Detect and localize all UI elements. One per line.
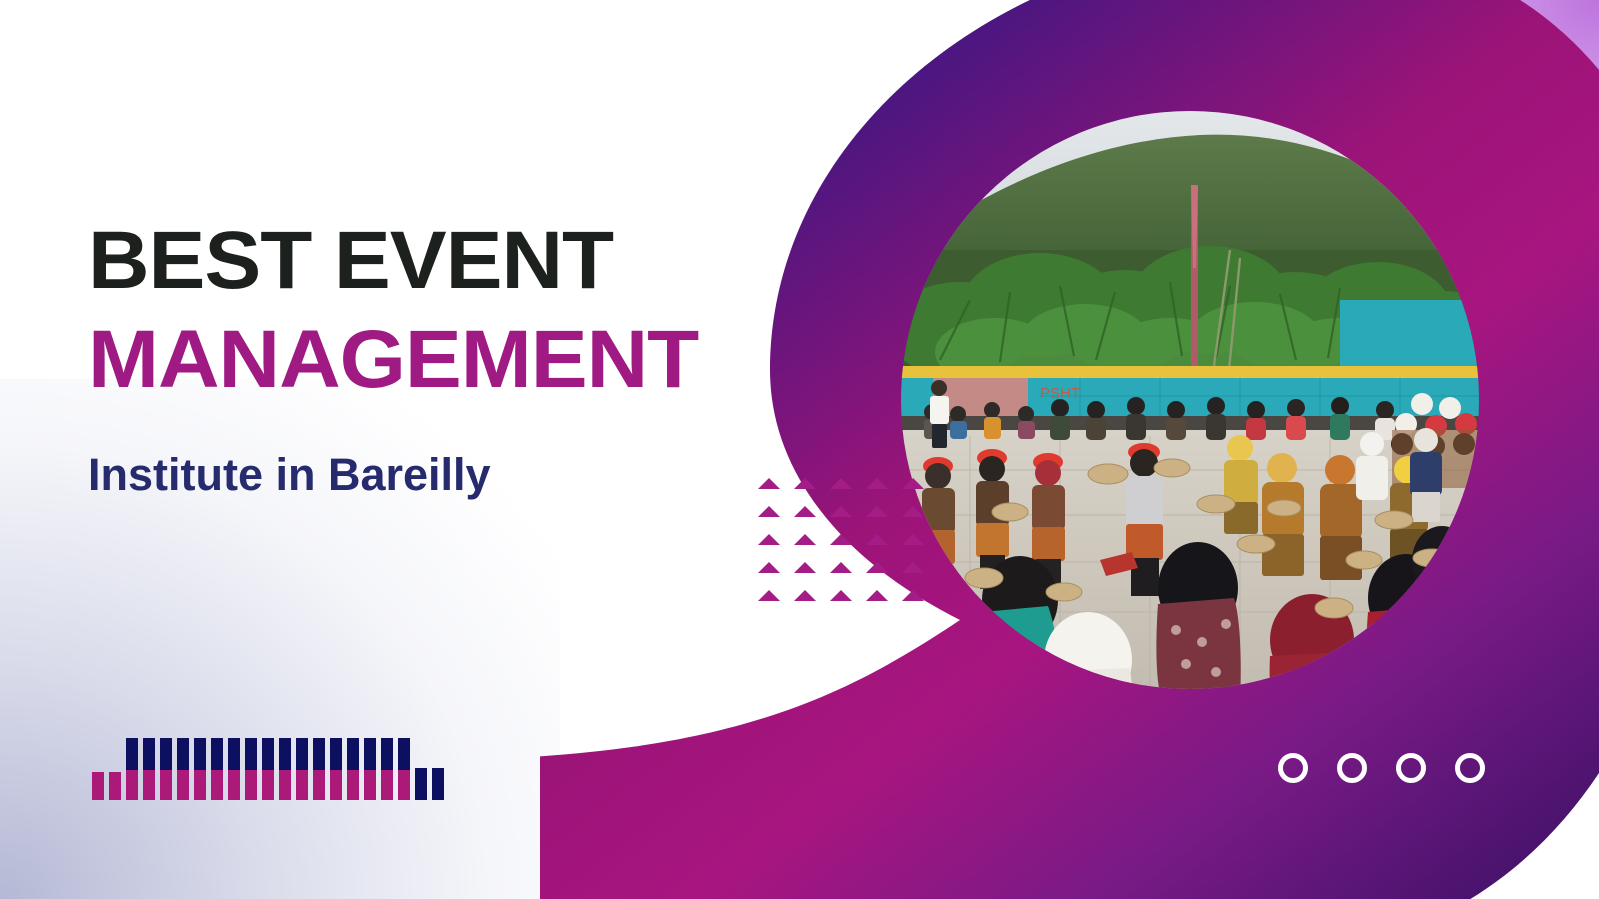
bar-segment-navy xyxy=(245,738,257,770)
equalizer-bar xyxy=(415,768,427,800)
triangle-up-icon xyxy=(830,590,852,601)
bar-segment-navy xyxy=(415,768,427,800)
carousel-dot-3[interactable] xyxy=(1396,753,1426,783)
triangle-up-icon xyxy=(830,562,852,573)
equalizer-bar xyxy=(160,738,172,800)
bar-segment-navy xyxy=(279,738,291,770)
bar-segment-magenta xyxy=(228,770,240,800)
triangle-up-icon xyxy=(794,506,816,517)
triangle-up-icon xyxy=(794,562,816,573)
triangle-up-icon xyxy=(902,506,924,517)
bar-segment-navy xyxy=(143,738,155,770)
triangle-up-icon xyxy=(830,534,852,545)
equalizer-bar xyxy=(126,738,138,800)
triangle-up-icon xyxy=(902,534,924,545)
triangle-up-icon xyxy=(866,590,888,601)
triangle-up-icon xyxy=(866,534,888,545)
triangle-up-icon xyxy=(902,478,924,489)
bar-segment-magenta xyxy=(381,770,393,800)
bar-segment-navy xyxy=(313,738,325,770)
equalizer-bar xyxy=(245,738,257,800)
bar-segment-magenta xyxy=(143,770,155,800)
photo-standing-man xyxy=(930,380,949,448)
triangle-up-icon xyxy=(758,506,780,517)
triangle-up-icon xyxy=(758,478,780,489)
equalizer-bar xyxy=(330,738,342,800)
bar-segment-magenta xyxy=(177,770,189,800)
equalizer-bar xyxy=(398,738,410,800)
equalizer-bar xyxy=(194,738,206,800)
bar-segment-magenta xyxy=(364,770,376,800)
equalizer-bar xyxy=(364,738,376,800)
equalizer-bar xyxy=(109,772,121,800)
equalizer-bar xyxy=(279,738,291,800)
bar-segment-magenta xyxy=(296,770,308,800)
bar-segment-navy xyxy=(330,738,342,770)
bar-segment-magenta xyxy=(109,772,121,800)
equalizer-bar xyxy=(92,772,104,800)
equalizer-bar xyxy=(347,738,359,800)
bar-segment-magenta xyxy=(279,770,291,800)
equalizer-bar xyxy=(177,738,189,800)
carousel-dot-1[interactable] xyxy=(1278,753,1308,783)
bar-segment-navy xyxy=(398,738,410,770)
equalizer-bar xyxy=(143,738,155,800)
bar-segment-navy xyxy=(126,738,138,770)
bar-segment-magenta xyxy=(194,770,206,800)
bar-segment-magenta xyxy=(313,770,325,800)
bar-segment-magenta xyxy=(160,770,172,800)
carousel-dots[interactable] xyxy=(1278,753,1485,783)
equalizer-bar xyxy=(313,738,325,800)
triangle-up-icon xyxy=(758,534,780,545)
bar-segment-magenta xyxy=(92,772,104,800)
bar-segment-navy xyxy=(177,738,189,770)
triangle-up-icon xyxy=(794,590,816,601)
headline-subtitle: Institute in Bareilly xyxy=(88,452,848,497)
bar-segment-magenta xyxy=(126,770,138,800)
bar-segment-navy xyxy=(364,738,376,770)
triangle-up-icon xyxy=(794,534,816,545)
bar-segment-navy xyxy=(194,738,206,770)
headline-line-2: MANAGEMENT xyxy=(88,321,878,398)
equalizer-bar xyxy=(228,738,240,800)
triangle-up-icon xyxy=(794,478,816,489)
bar-segment-navy xyxy=(160,738,172,770)
triangle-up-icon xyxy=(902,562,924,573)
triangle-up-icon xyxy=(758,562,780,573)
bar-segment-magenta xyxy=(211,770,223,800)
equalizer-bar-decoration xyxy=(92,738,444,800)
bar-segment-magenta xyxy=(398,770,410,800)
bar-segment-navy xyxy=(211,738,223,770)
carousel-dot-2[interactable] xyxy=(1337,753,1367,783)
promo-banner: PSHT xyxy=(0,0,1599,899)
equalizer-bar xyxy=(296,738,308,800)
triangle-up-icon xyxy=(830,506,852,517)
headline-block: BEST EVENT MANAGEMENT Institute in Barei… xyxy=(88,222,848,497)
triangle-pattern-grid xyxy=(758,478,938,618)
triangle-up-icon xyxy=(866,478,888,489)
equalizer-bar xyxy=(211,738,223,800)
bar-segment-navy xyxy=(262,738,274,770)
bar-segment-magenta xyxy=(245,770,257,800)
headline-line-1: BEST EVENT xyxy=(88,222,878,299)
triangle-up-icon xyxy=(902,590,924,601)
bar-segment-navy xyxy=(432,768,444,800)
bar-segment-magenta xyxy=(262,770,274,800)
triangle-up-icon xyxy=(866,506,888,517)
equalizer-bar xyxy=(381,738,393,800)
bar-segment-magenta xyxy=(330,770,342,800)
carousel-dot-4[interactable] xyxy=(1455,753,1485,783)
bar-segment-navy xyxy=(296,738,308,770)
bar-segment-navy xyxy=(347,738,359,770)
bar-segment-navy xyxy=(228,738,240,770)
triangle-up-icon xyxy=(758,590,780,601)
triangle-up-icon xyxy=(866,562,888,573)
equalizer-bar xyxy=(262,738,274,800)
bar-segment-navy xyxy=(381,738,393,770)
equalizer-bar xyxy=(432,768,444,800)
bar-segment-magenta xyxy=(347,770,359,800)
triangle-up-icon xyxy=(830,478,852,489)
